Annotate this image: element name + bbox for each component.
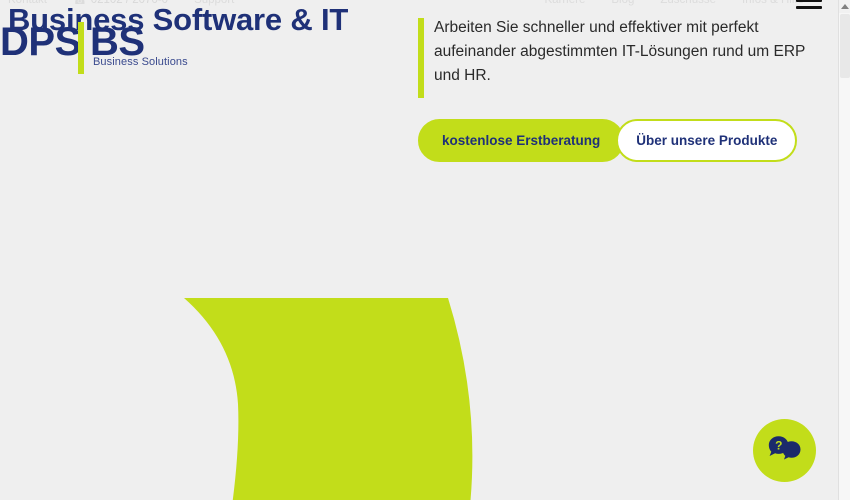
svg-text:?: ? — [775, 438, 782, 452]
hero-subheading: Arbeiten Sie schneller und effektiver mi… — [434, 16, 826, 88]
logo-text-dps: DPS — [0, 22, 81, 62]
site-logo[interactable]: DPS BS Business Solutions — [0, 14, 200, 76]
hero-text-block: Arbeiten Sie schneller und effektiver mi… — [418, 16, 826, 88]
decorative-green-shape — [180, 296, 480, 500]
cta-secondary-button[interactable]: Über unsere Produkte — [616, 119, 797, 162]
nav-item-karriere[interactable]: Karriere — [544, 0, 585, 6]
page-scrollbar[interactable] — [838, 0, 850, 500]
page-viewport: Kontakt ☎ 02102 / 2070-0 Support Karrier… — [0, 0, 838, 500]
logo-tagline: Business Solutions — [93, 56, 188, 68]
chevron-up-icon — [841, 4, 849, 9]
logo-divider-bar — [78, 22, 84, 74]
chat-question-icon: ? — [767, 435, 803, 467]
nav-item-infos-hilfe[interactable]: Infos & Hilfe — [742, 0, 804, 6]
hero-subheading-wrap: Arbeiten Sie schneller und effektiver mi… — [418, 16, 826, 88]
cta-primary-button[interactable]: kostenlose Erstberatung — [418, 119, 624, 162]
chat-widget-button[interactable]: ? — [753, 419, 816, 482]
nav-item-zuschuesse[interactable]: Zuschüsse — [660, 0, 716, 6]
hero-accent-bar — [418, 18, 424, 98]
scrollbar-thumb[interactable] — [840, 14, 850, 78]
top-nav-right-group: Karriere Blog Zuschüsse Infos & Hilfe — [544, 0, 804, 6]
hero-cta-row: kostenlose Erstberatung Über unsere Prod… — [418, 119, 797, 162]
hamburger-menu-icon[interactable] — [796, 0, 822, 14]
hamburger-bar-2 — [796, 6, 822, 9]
scrollbar-up-arrow[interactable] — [839, 0, 850, 13]
hamburger-bar-1 — [796, 0, 822, 2]
nav-item-blog[interactable]: Blog — [611, 0, 634, 6]
